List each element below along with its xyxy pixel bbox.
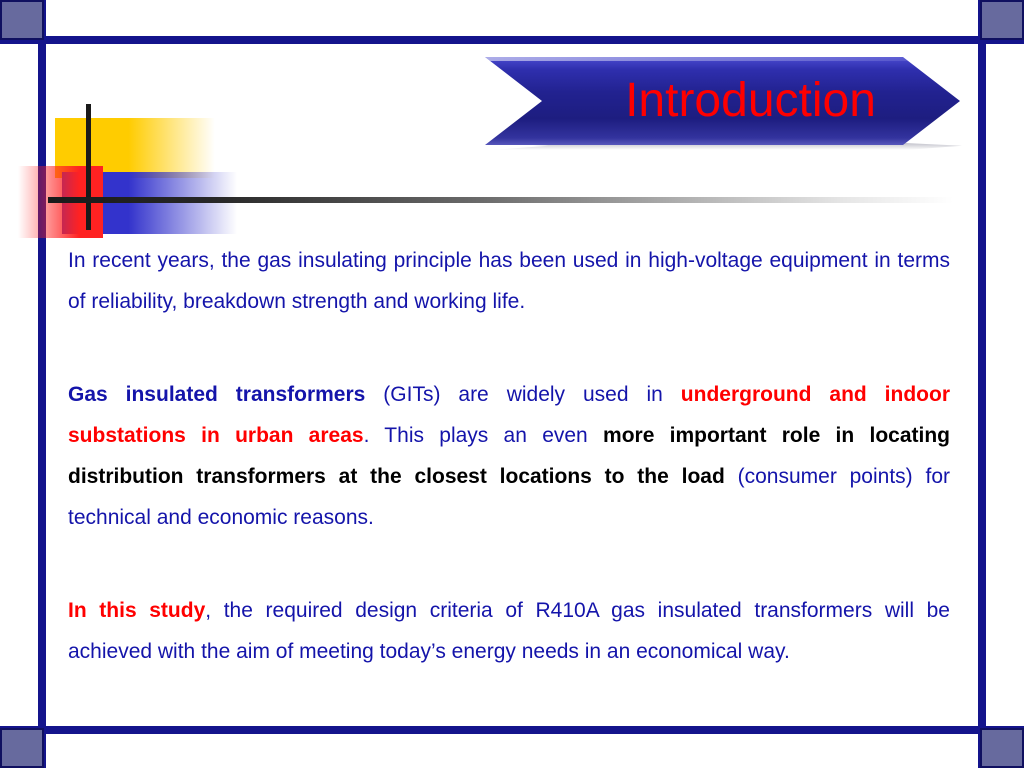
frame-line-right (978, 0, 986, 768)
title-banner-sheen (485, 57, 960, 61)
paragraph-3-run-0: In this study (68, 599, 205, 622)
frame-line-top (0, 36, 1024, 44)
frame-line-bottom (0, 726, 1024, 734)
paragraph-1: In recent years, the gas insulating prin… (68, 240, 950, 322)
paragraph-3: In this study, the required design crite… (68, 590, 950, 672)
slide-body: In recent years, the gas insulating prin… (68, 240, 950, 672)
page-title: Introduction (569, 77, 876, 125)
title-banner: Introduction (485, 57, 960, 145)
decorative-horizontal-rule (48, 197, 953, 203)
corner-square-top-left (0, 0, 44, 40)
paragraph-2-run-0: Gas insulated transformers (68, 383, 365, 406)
corner-square-top-right (980, 0, 1024, 40)
decorative-vertical-rule (86, 104, 91, 230)
presentation-slide: Introduction In recent years, the gas in… (0, 0, 1024, 768)
paragraph-2: Gas insulated transformers (GITs) are wi… (68, 374, 950, 538)
corner-square-bottom-left (0, 728, 44, 768)
paragraph-2-run-3: . This plays an even (364, 424, 603, 447)
paragraph-2-run-1: (GITs) are widely used in (365, 383, 680, 406)
decorative-squares-motif (0, 90, 380, 230)
corner-square-bottom-right (980, 728, 1024, 768)
paragraph-1-run-0: In recent years, the gas insulating prin… (68, 249, 950, 313)
